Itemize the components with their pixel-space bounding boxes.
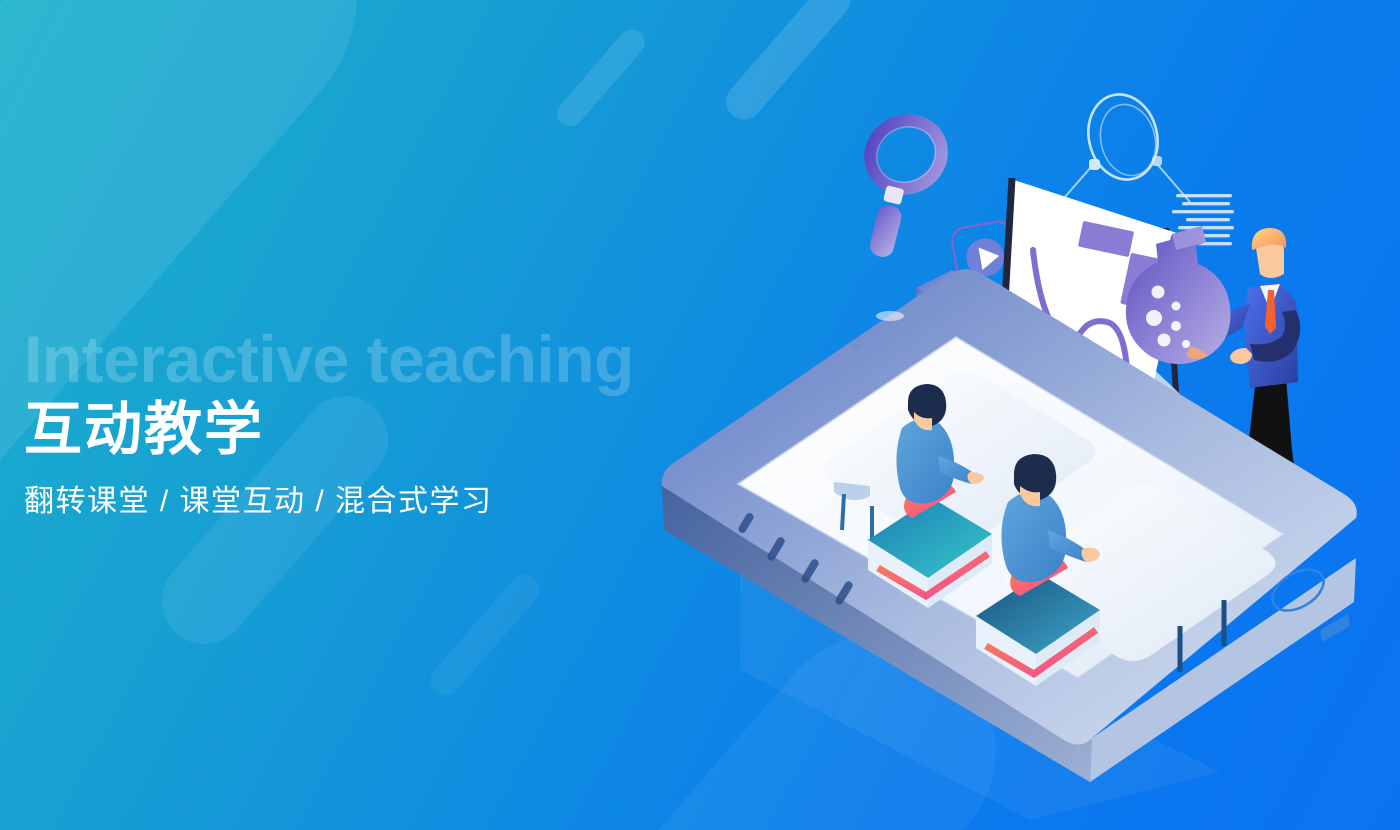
tablet-speaker xyxy=(876,311,904,321)
banner-subtitle: 翻转课堂 / 课堂互动 / 混合式学习 xyxy=(24,484,724,520)
desk-back-leg-a xyxy=(842,494,844,530)
page-title: 互动教学 xyxy=(24,398,724,462)
isometric-classroom-illustration xyxy=(620,60,1380,820)
tablet-camera xyxy=(852,343,862,349)
marketing-banner: Interactive teaching 互动教学 翻转课堂 / 课堂互动 / … xyxy=(0,0,1400,830)
magnifier-icon xyxy=(820,109,978,268)
banner-text-block: Interactive teaching 互动教学 翻转课堂 / 课堂互动 / … xyxy=(24,326,724,520)
ghost-title: Interactive teaching xyxy=(24,326,724,392)
decor-stripe-dash-c xyxy=(424,569,545,702)
